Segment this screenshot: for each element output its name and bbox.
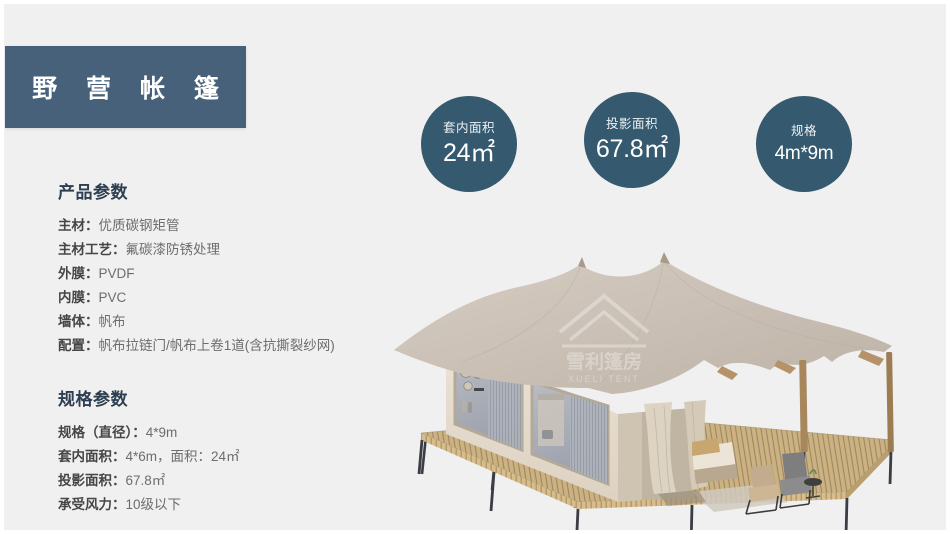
spec-row: 套内面积：4*6m，面积：24㎡ [58, 445, 240, 469]
spec-label: 配置： [58, 338, 99, 353]
stat-value: 24㎡ [443, 141, 495, 166]
spec-value: PVC [99, 290, 127, 305]
interior-bed [692, 438, 738, 484]
product-parameters-section: 产品参数 主材：优质碳钢矩管 主材工艺：氟碳漆防锈处理 外膜：PVDF 内膜：P… [58, 178, 335, 358]
stat-circle-dimensions: 规格 4m*9m [756, 96, 852, 192]
page-root: 野 营 帐 篷 套内面积 24㎡ 投影面积 67.8㎡ 规格 4m*9m 产品参… [0, 0, 950, 534]
canopy-peak-right [660, 252, 670, 264]
spec-row: 主材工艺：氟碳漆防锈处理 [58, 238, 335, 262]
spec-row: 内膜：PVC [58, 286, 335, 310]
title-banner: 野 营 帐 篷 [5, 46, 246, 128]
page-title: 野 营 帐 篷 [21, 69, 230, 105]
spec-value: 优质碳钢矩管 [99, 218, 180, 233]
spec-row: 承受风力：10级以下 [58, 493, 240, 517]
spec-row: 主材：优质碳钢矩管 [58, 214, 335, 238]
spec-label: 内膜： [58, 290, 99, 305]
spec-label: 投影面积： [58, 473, 126, 488]
stat-label: 投影面积 [606, 118, 658, 131]
stat-label: 套内面积 [443, 122, 495, 135]
stat-circle-projected-area: 投影面积 67.8㎡ [584, 92, 680, 188]
size-parameters-section: 规格参数 规格（直径）：4*9m 套内面积：4*6m，面积：24㎡ 投影面积：6… [58, 385, 240, 517]
interior-detail [538, 394, 564, 446]
spec-row: 投影面积：67.8㎡ [58, 469, 240, 493]
spec-label: 外膜： [58, 266, 99, 281]
spec-label: 套内面积： [58, 449, 126, 464]
section-heading-size: 规格参数 [58, 385, 240, 410]
watermark-en-text: XUELI TENT [568, 374, 640, 384]
spec-label: 墙体： [58, 314, 99, 329]
spec-value: PVDF [99, 266, 135, 281]
section-heading-product: 产品参数 [58, 178, 335, 203]
stat-label: 规格 [791, 125, 817, 138]
stat-value: 67.8㎡ [596, 137, 668, 162]
spec-row: 规格（直径）：4*9m [58, 421, 240, 445]
spec-row: 墙体：帆布 [58, 310, 335, 334]
cabin-wall-corner [618, 412, 642, 502]
spec-value: 67.8㎡ [126, 473, 166, 488]
spec-label: 规格（直径）： [58, 425, 146, 440]
spec-value: 帆布 [99, 314, 126, 329]
spec-label: 主材工艺： [58, 242, 126, 257]
stat-circle-interior-area: 套内面积 24㎡ [421, 96, 517, 192]
stat-value: 4m*9m [775, 144, 834, 163]
spec-value: 4*9m [146, 425, 178, 440]
spec-value: 帆布拉链门/帆布上卷1道(含抗撕裂纱网) [99, 338, 335, 353]
spec-value: 4*6m，面积：24㎡ [126, 449, 240, 464]
watermark-cn-text: 雪利篷房 [566, 350, 642, 373]
spec-label: 主材： [58, 218, 99, 233]
spec-value: 氟碳漆防锈处理 [126, 242, 221, 257]
spec-label: 承受风力： [58, 497, 126, 512]
spec-row: 配置：帆布拉链门/帆布上卷1道(含抗撕裂纱网) [58, 334, 335, 358]
curtain-2 [570, 396, 608, 484]
spec-value: 10级以下 [126, 497, 182, 512]
tent-render-image: 雪利篷房 XUELI TENT [392, 202, 950, 534]
spec-row: 外膜：PVDF [58, 262, 335, 286]
